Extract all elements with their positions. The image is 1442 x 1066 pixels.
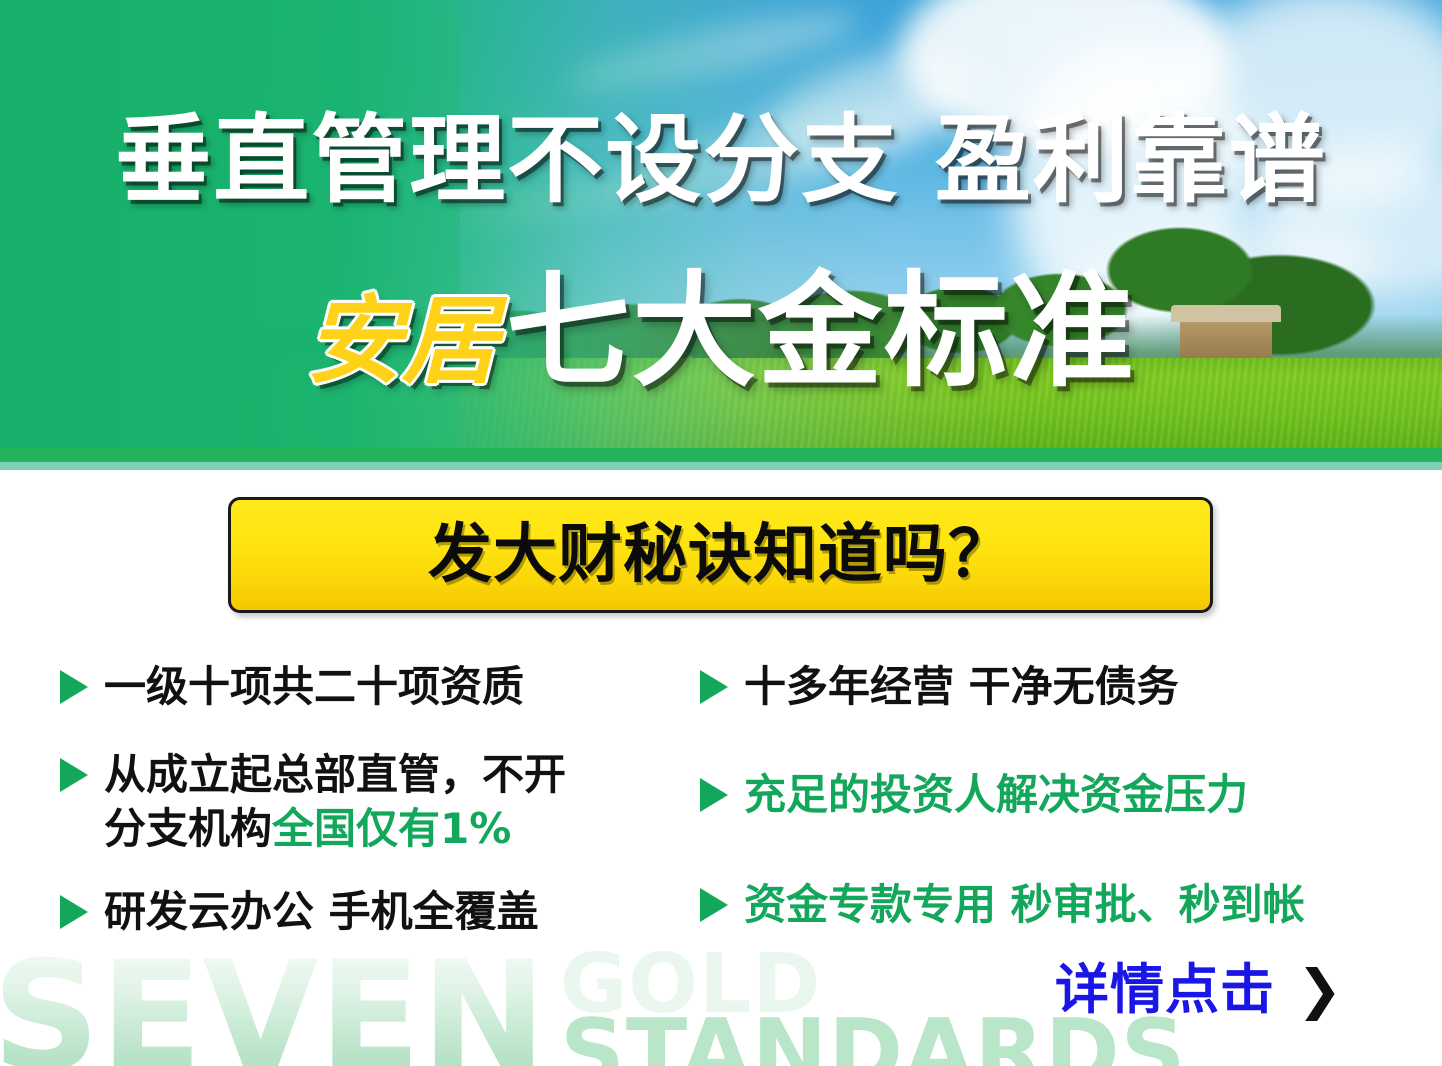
list-item: 十多年经营 干净无债务 xyxy=(700,660,1400,714)
list-item: 研发云办公 手机全覆盖 xyxy=(60,885,690,939)
feature-text-highlight: 全国仅有1% xyxy=(272,804,511,853)
highlight-banner-label: 发大财秘诀知道吗？ xyxy=(428,523,1013,587)
feature-text: 资金专款专用 秒审批、秒到帐 xyxy=(744,878,1305,932)
list-item: 资金专款专用 秒审批、秒到帐 xyxy=(700,878,1400,932)
triangle-bullet-icon xyxy=(60,758,88,792)
hero-text-group: 垂直管理不设分支 盈利靠谱 安居七大金标准 xyxy=(0,0,1442,470)
triangle-bullet-icon xyxy=(60,895,88,929)
hero-headline-main: 七大金标准 xyxy=(506,270,1136,394)
triangle-bullet-icon xyxy=(700,778,728,812)
details-cta-link[interactable]: 详情点击 ❯ xyxy=(1055,963,1342,1017)
chevron-right-icon: ❯ xyxy=(1297,963,1342,1017)
hero-headline-secondary: 安居七大金标准 xyxy=(0,270,1442,394)
feature-text-line-b: 分支机构 xyxy=(104,804,272,853)
details-cta-label: 详情点击 xyxy=(1055,963,1275,1017)
feature-text: 十多年经营 干净无债务 xyxy=(744,660,1179,714)
features-column-right: 十多年经营 干净无债务 充足的投资人解决资金压力 资金专款专用 秒审批、秒到帐 xyxy=(700,660,1400,965)
hero-brand-name: 安居 xyxy=(306,293,498,389)
feature-text: 从成立起总部直管，不开分支机构全国仅有1% xyxy=(104,748,566,856)
triangle-bullet-icon xyxy=(700,670,728,704)
list-item: 从成立起总部直管，不开分支机构全国仅有1% xyxy=(60,748,690,856)
feature-text: 充足的投资人解决资金压力 xyxy=(744,768,1248,822)
features-section: 一级十项共二十项资质 从成立起总部直管，不开分支机构全国仅有1% 研发云办公 手… xyxy=(0,660,1442,990)
feature-text-line-a: 从成立起总部直管，不开 xyxy=(104,750,566,799)
feature-text: 一级十项共二十项资质 xyxy=(104,660,524,714)
triangle-bullet-icon xyxy=(60,670,88,704)
hero-section: 垂直管理不设分支 盈利靠谱 安居七大金标准 xyxy=(0,0,1442,470)
highlight-banner[interactable]: 发大财秘诀知道吗？ xyxy=(228,497,1213,613)
advertisement-banner: 垂直管理不设分支 盈利靠谱 安居七大金标准 发大财秘诀知道吗？ 一级十项共二十项… xyxy=(0,0,1442,1066)
triangle-bullet-icon xyxy=(700,888,728,922)
list-item: 一级十项共二十项资质 xyxy=(60,660,690,714)
feature-text: 研发云办公 手机全覆盖 xyxy=(104,885,539,939)
list-item: 充足的投资人解决资金压力 xyxy=(700,768,1400,822)
features-column-left: 一级十项共二十项资质 从成立起总部直管，不开分支机构全国仅有1% 研发云办公 手… xyxy=(60,660,690,973)
hero-headline-primary: 垂直管理不设分支 盈利靠谱 xyxy=(0,112,1442,208)
